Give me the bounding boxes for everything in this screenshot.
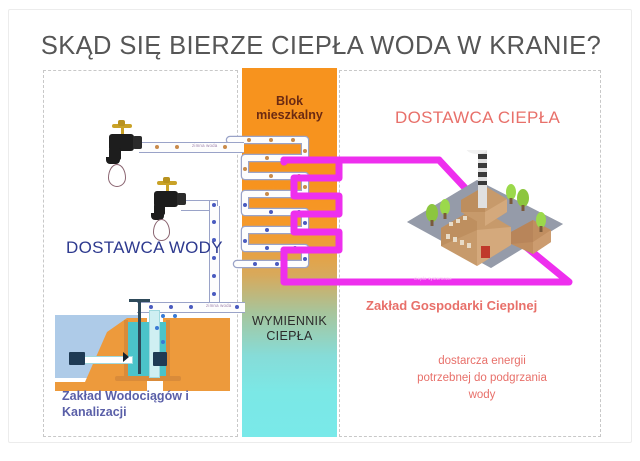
- block-top-label: Blok mieszkalny: [242, 94, 337, 122]
- water-facility-label: Zakład Wodociągów i Kanalizacji: [62, 388, 189, 420]
- infographic-canvas: SKĄD SIĘ BIERZE CIEPŁA WODA W KRANIE? Bl…: [0, 0, 640, 461]
- water-drop-icon: [108, 164, 126, 187]
- heat-facility-label: Zakład Gospodarki Cieplnej: [366, 298, 537, 313]
- infographic-card: SKĄD SIĘ BIERZE CIEPŁA WODA W KRANIE? Bl…: [8, 9, 632, 443]
- water-treatment-icon: [55, 296, 230, 391]
- heat-supplier-heading: DOSTAWCA CIEPŁA: [395, 108, 560, 128]
- pipe-joint: [175, 145, 179, 149]
- pipe-joint: [223, 145, 227, 149]
- water-supplier-heading: DOSTAWCA WODY: [66, 238, 223, 258]
- pipe-joint: [212, 203, 216, 207]
- control-unit: [153, 352, 167, 366]
- pipe-label-district-heat: ciepło systemowe: [413, 276, 453, 281]
- heat-description: dostarcza energii potrzebnej do podgrzan…: [387, 353, 577, 404]
- heat-exchanger-label: WYMIENNIK CIEPŁA: [242, 314, 337, 344]
- pipe-joint: [212, 220, 216, 224]
- faucet-icon-lower: [143, 176, 199, 244]
- pipe-joint: [212, 274, 216, 278]
- intake-pump: [69, 352, 85, 365]
- treatment-tank: [127, 322, 167, 378]
- page-title: SKĄD SIĘ BIERZE CIEPŁA WODA W KRANIE?: [9, 32, 633, 61]
- pipe-label-cold-top: zimna woda: [191, 143, 218, 148]
- factory-icon: [399, 150, 569, 275]
- pipe-joint: [235, 305, 239, 309]
- valve-icon: [123, 352, 129, 362]
- residential-block-column: Blok mieszkalny WYMIENNIK CIEPŁA: [242, 68, 337, 437]
